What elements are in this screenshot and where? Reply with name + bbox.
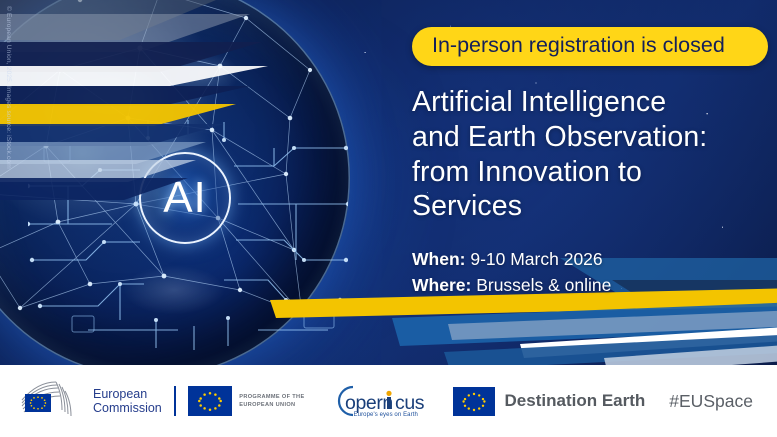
ec-wordmark-line1: European	[93, 387, 162, 401]
event-details: When: 9-10 March 2026 Where: Brussels & …	[412, 247, 611, 299]
title-line-3: from Innovation to	[412, 155, 772, 190]
ai-circle: AI	[139, 152, 231, 244]
ec-wordmark-line2: Commission	[93, 401, 162, 415]
footer-logo-bar: European Commission	[0, 365, 777, 437]
ec-wordmark: European Commission	[93, 387, 162, 415]
title-line-1: Artificial Intelligence	[412, 85, 772, 120]
status-badge: In-person registration is closed	[412, 27, 768, 66]
destination-earth-label: Destination Earth	[505, 391, 646, 411]
where-label: Where:	[412, 275, 471, 295]
hashtag-euspace: #EUSpace	[669, 391, 753, 412]
svg-text:cus: cus	[395, 392, 425, 414]
where-value: Brussels & online	[476, 275, 611, 295]
logo-european-commission: European Commission	[16, 380, 162, 422]
copyright-credit: © European Union, 2025. Images source: i…	[5, 6, 12, 169]
event-banner: AI © European Union,	[0, 0, 777, 437]
ec-wings-icon	[16, 380, 88, 422]
eu-flag-icon-desteearth	[453, 387, 495, 416]
logo-divider	[174, 386, 177, 416]
when-value: 9-10 March 2026	[470, 249, 602, 269]
eu-flag-icon	[188, 386, 232, 416]
svg-text:opern: opern	[345, 392, 393, 414]
title-line-2: and Earth Observation:	[412, 120, 772, 155]
logo-copernicus: opern cus Europe's eyes on Earth	[323, 383, 431, 419]
when-label: When:	[412, 249, 465, 269]
programme-line2: European Union	[239, 401, 304, 409]
ai-label: AI	[163, 176, 207, 220]
ai-emblem: AI	[139, 152, 231, 244]
logo-destination-earth: Destination Earth	[453, 387, 646, 416]
copernicus-i-dot	[386, 391, 391, 396]
copernicus-tagline: Europe's eyes on Earth	[354, 412, 418, 418]
event-when: When: 9-10 March 2026	[412, 247, 611, 273]
programme-line1: Programme of the	[239, 393, 304, 401]
event-where: Where: Brussels & online	[412, 273, 611, 299]
title-line-4: Services	[412, 189, 772, 224]
logo-programme-eu: Programme of the European Union	[188, 386, 304, 416]
programme-wordmark: Programme of the European Union	[239, 393, 304, 409]
page-title: Artificial Intelligence and Earth Observ…	[412, 85, 772, 224]
